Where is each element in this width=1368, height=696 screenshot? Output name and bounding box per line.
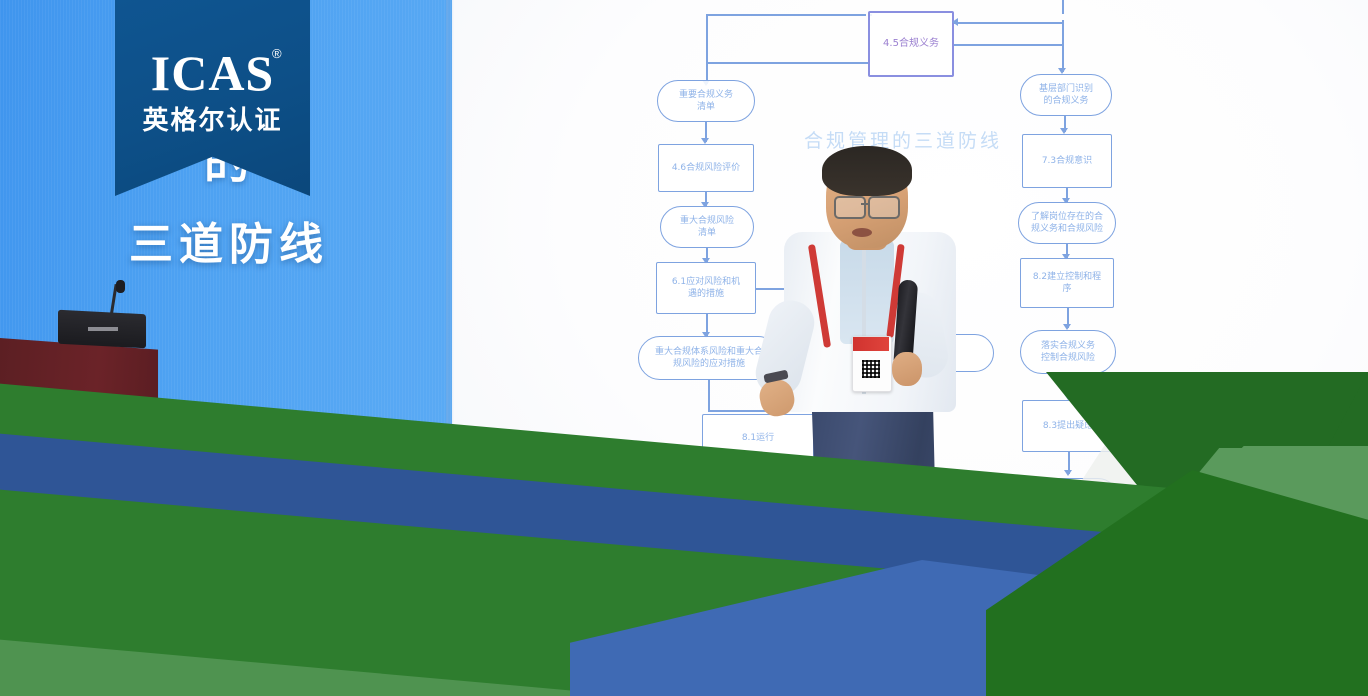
lectern-console-strip (88, 327, 118, 331)
speaker-hair (822, 146, 912, 196)
flow-connector (706, 62, 868, 64)
flow-connector (1062, 0, 1064, 14)
speaker-inner-shirt (840, 240, 894, 344)
flow-node-implement-obligations[interactable]: 落实合规义务 控制合规风险 (1020, 330, 1116, 374)
glasses-bridge-icon (861, 203, 870, 205)
flow-node-82-controls-procedures[interactable]: 8.2建立控制和程 序 (1020, 258, 1114, 308)
flow-connector (706, 14, 866, 16)
icas-logo-subtitle: 英格尔认证 (115, 100, 310, 137)
flow-node-important-obligation-list[interactable]: 重要合规义务 清单 (657, 80, 755, 122)
flow-connector (708, 380, 710, 410)
speaker-mouth (852, 228, 872, 237)
glasses-icon (868, 196, 900, 219)
flow-connector (954, 44, 1064, 46)
badge-header-band (853, 337, 889, 351)
conference-presentation-photo: 的 三道防线 ICAS ® 英格尔认证 合规管理的三道防线 4.5合规义务 重要… (0, 0, 1368, 696)
flow-node-73-compliance-awareness[interactable]: 7.3合规意识 (1022, 134, 1112, 188)
registered-mark-icon: ® (272, 46, 282, 61)
flow-node-major-risk-list[interactable]: 重大合规风险 清单 (660, 206, 754, 248)
flow-node-post-obligation-knowledge[interactable]: 了解岗位存在的合 规义务和合规风险 (1018, 202, 1116, 244)
flow-node-base-dept-obligations[interactable]: 基层部门识别 的合规义务 (1020, 74, 1112, 116)
wall-title-line2: 三道防线 (64, 208, 394, 272)
flow-arrow-icon (952, 18, 958, 26)
qr-code-icon (862, 360, 880, 378)
flow-node-46-risk-evaluation[interactable]: 4.6合规风险评价 (658, 144, 754, 192)
flow-connector (706, 14, 708, 62)
flow-arrow-icon (1064, 470, 1072, 476)
flow-connector (1062, 20, 1064, 44)
glasses-icon (834, 196, 866, 219)
flowchart-heading: 合规管理的三道防线 (804, 126, 1002, 153)
flow-connector (954, 22, 1062, 24)
lectern-microphone-icon (116, 280, 125, 293)
flow-node-45-compliance-obligations[interactable]: 4.5合规义务 (868, 11, 954, 77)
speaker-right-hand (892, 352, 922, 386)
flow-node-61-risk-opportunity-measures[interactable]: 6.1应对风险和机 遇的措施 (656, 262, 756, 314)
